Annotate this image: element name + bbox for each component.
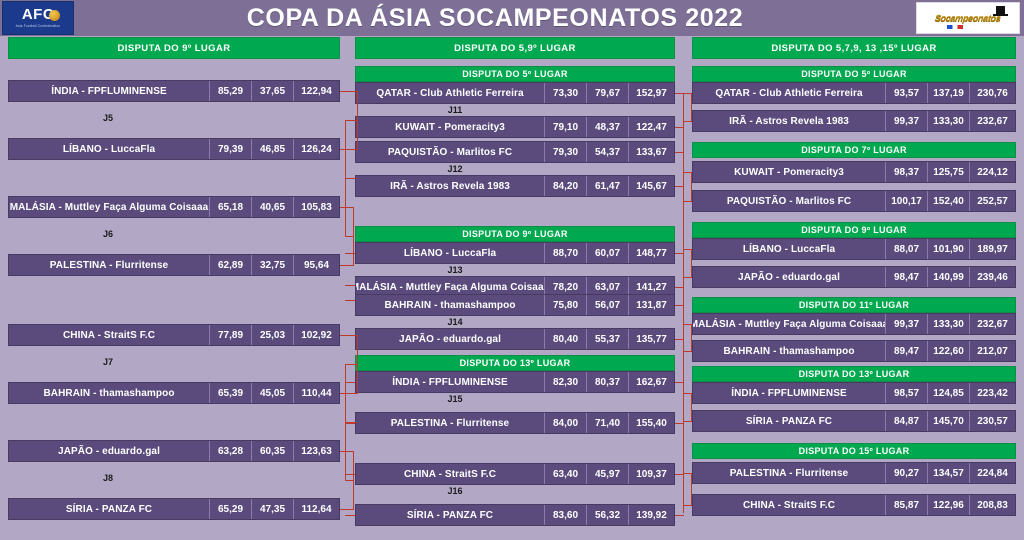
- score-total: 123,63: [293, 441, 339, 461]
- team-name: QATAR - Club Athletic Ferreira: [356, 83, 544, 103]
- score-total: 122,94: [293, 81, 339, 101]
- socampeonatos-logo-text: Socampeonatos: [934, 13, 1001, 23]
- bracket-line: [340, 509, 354, 510]
- bracket-line: [683, 473, 692, 474]
- score-2: 37,65: [251, 81, 293, 101]
- score-1: 98,37: [885, 162, 927, 182]
- match-code: J13: [355, 265, 555, 275]
- score-total: 102,92: [293, 325, 339, 345]
- bracket-line: [675, 287, 684, 288]
- score-1: 82,30: [544, 372, 586, 392]
- bracket-line: [683, 324, 692, 325]
- match-row[interactable]: CHINA - StraitS F.C 85,87 122,96 208,83: [692, 494, 1016, 516]
- column-header-2: DISPUTA DO 5,9º LUGAR: [355, 37, 675, 59]
- bracket-line: [345, 480, 354, 481]
- stage-header: DISPUTA DO 9º LUGAR: [355, 226, 675, 242]
- bracket-line: [345, 253, 355, 254]
- score-1: 79,30: [544, 142, 586, 162]
- score-1: 65,39: [209, 383, 251, 403]
- team-name: SÍRIA - PANZA FC: [356, 505, 544, 525]
- match-row[interactable]: CHINA - StraitS F.C 77,89 25,03 102,92: [8, 324, 340, 346]
- score-1: 84,87: [885, 411, 927, 431]
- score-2: 55,37: [586, 329, 628, 349]
- team-name: LÍBANO - LuccaFla: [356, 243, 544, 263]
- match-row[interactable]: PALESTINA - Flurritense 84,00 71,40 155,…: [355, 412, 675, 434]
- score-2: 56,32: [586, 505, 628, 525]
- bracket-line: [691, 93, 692, 121]
- afc-logo: AFC Asia Football Confederation: [2, 1, 74, 35]
- match-row[interactable]: IRÃ - Astros Revela 1983 99,37 133,30 23…: [692, 110, 1016, 132]
- match-row[interactable]: KUWAIT - Pomeracity3 79,10 48,37 122,47: [355, 116, 675, 138]
- score-2: 137,19: [927, 83, 969, 103]
- team-name: MALÁSIA - Muttley Faça Alguma Coisaaa: [693, 314, 885, 334]
- score-2: 79,67: [586, 83, 628, 103]
- match-code: J5: [8, 113, 208, 123]
- score-1: 63,28: [209, 441, 251, 461]
- score-1: 79,39: [209, 139, 251, 159]
- bracket-line: [345, 236, 354, 237]
- stage-header: DISPUTA DO 13º LUGAR: [692, 366, 1016, 382]
- bracket-line: [683, 277, 692, 278]
- bracket-line: [345, 178, 357, 179]
- match-row[interactable]: SÍRIA - PANZA FC 84,87 145,70 230,57: [692, 410, 1016, 432]
- column-headers: DISPUTA DO 9º LUGAR DISPUTA DO 5,9º LUGA…: [0, 37, 1024, 59]
- match-code: J6: [8, 229, 208, 239]
- bracket-line: [675, 186, 684, 187]
- column-header-3: DISPUTA DO 5,7,9, 13 ,15º LUGAR: [692, 37, 1016, 59]
- score-2: 145,70: [927, 411, 969, 431]
- bracket-line: [345, 423, 355, 424]
- score-total: 109,37: [628, 464, 674, 484]
- score-2: 125,75: [927, 162, 969, 182]
- bracket-line: [683, 121, 692, 122]
- match-row[interactable]: SÍRIA - PANZA FC 83,60 56,32 139,92: [355, 504, 675, 526]
- score-2: 48,37: [586, 117, 628, 137]
- match-row[interactable]: ÍNDIA - FPFLUMINENSE 85,29 37,65 122,94: [8, 80, 340, 102]
- page-header: AFC Asia Football Confederation COPA DA …: [0, 0, 1024, 36]
- match-row[interactable]: ÍNDIA - FPFLUMINENSE 82,30 80,37 162,67: [355, 371, 675, 393]
- match-row[interactable]: JAPÃO - eduardo.gal 80,40 55,37 135,77: [355, 328, 675, 350]
- bracket-line: [340, 149, 358, 150]
- column-header-1: DISPUTA DO 9º LUGAR: [8, 37, 340, 59]
- team-name: PAQUISTÃO - Marlitos FC: [693, 191, 885, 211]
- score-total: 155,40: [628, 413, 674, 433]
- bracket-line: [675, 515, 684, 516]
- match-row[interactable]: QATAR - Club Athletic Ferreira 93,57 137…: [692, 82, 1016, 104]
- bracket-line: [345, 382, 355, 383]
- match-row[interactable]: JAPÃO - eduardo.gal 98,47 140,99 239,46: [692, 266, 1016, 288]
- team-name: IRÃ - Astros Revela 1983: [356, 176, 544, 196]
- team-name: CHINA - StraitS F.C: [693, 495, 885, 515]
- stage-header: DISPUTA DO 11º LUGAR: [692, 297, 1016, 313]
- score-total: 212,07: [969, 341, 1015, 361]
- socampeonatos-logo: Socampeonatos: [916, 2, 1020, 34]
- bracket-line: [345, 300, 355, 301]
- score-total: 224,84: [969, 463, 1015, 483]
- score-2: 25,03: [251, 325, 293, 345]
- team-name: LÍBANO - LuccaFla: [9, 139, 209, 159]
- score-1: 99,37: [885, 111, 927, 131]
- match-row[interactable]: MALÁSIA - Muttley Faça Alguma Coisaaa 99…: [692, 313, 1016, 335]
- score-1: 88,07: [885, 239, 927, 259]
- score-1: 77,89: [209, 325, 251, 345]
- score-1: 65,29: [209, 499, 251, 519]
- match-code: J15: [355, 394, 555, 404]
- team-name: ÍNDIA - FPFLUMINENSE: [693, 383, 885, 403]
- match-row[interactable]: BAHRAIN - thamashampoo 89,47 122,60 212,…: [692, 340, 1016, 362]
- stage-header: DISPUTA DO 15º LUGAR: [692, 443, 1016, 459]
- bracket-line: [340, 207, 354, 208]
- bracket-line: [675, 152, 684, 153]
- stage-header: DISPUTA DO 5º LUGAR: [692, 66, 1016, 82]
- bracket-line: [691, 172, 692, 201]
- score-total: 224,12: [969, 162, 1015, 182]
- score-1: 73,30: [544, 83, 586, 103]
- bracket-line: [683, 249, 692, 250]
- score-total: 232,67: [969, 111, 1015, 131]
- team-name: JAPÃO - eduardo.gal: [9, 441, 209, 461]
- score-total: 112,64: [293, 499, 339, 519]
- score-2: 122,60: [927, 341, 969, 361]
- score-total: 105,83: [293, 197, 339, 217]
- match-code: J14: [355, 317, 555, 327]
- score-total: 232,67: [969, 314, 1015, 334]
- bracket-line: [683, 172, 692, 173]
- team-name: MALÁSIA - Muttley Faça Alguma Coisaaa: [9, 197, 209, 217]
- bracket-line: [675, 382, 684, 383]
- score-1: 83,60: [544, 505, 586, 525]
- score-1: 89,47: [885, 341, 927, 361]
- score-2: 54,37: [586, 142, 628, 162]
- bracket-line: [683, 93, 684, 513]
- match-row[interactable]: JAPÃO - eduardo.gal 63,28 60,35 123,63: [8, 440, 340, 462]
- match-row[interactable]: PAQUISTÃO - Marlitos FC 100,17 152,40 25…: [692, 190, 1016, 212]
- team-name: SÍRIA - PANZA FC: [9, 499, 209, 519]
- score-total: 148,77: [628, 243, 674, 263]
- team-name: QATAR - Club Athletic Ferreira: [693, 83, 885, 103]
- score-2: 46,85: [251, 139, 293, 159]
- match-row[interactable]: LÍBANO - LuccaFla 79,39 46,85 126,24: [8, 138, 340, 160]
- bracket-line: [675, 127, 684, 128]
- bracket-line: [345, 120, 357, 121]
- bracket-line: [675, 253, 684, 254]
- score-1: 93,57: [885, 83, 927, 103]
- score-2: 61,47: [586, 176, 628, 196]
- score-1: 99,37: [885, 314, 927, 334]
- score-total: 162,67: [628, 372, 674, 392]
- score-2: 45,05: [251, 383, 293, 403]
- match-code: J8: [8, 473, 208, 483]
- stage-header: DISPUTA DO 7º LUGAR: [692, 142, 1016, 158]
- bracket-line: [675, 305, 684, 306]
- match-row[interactable]: SÍRIA - PANZA FC 65,29 47,35 112,64: [8, 498, 340, 520]
- bracket-line: [691, 473, 692, 505]
- match-row[interactable]: BAHRAIN - thamashampoo 65,39 45,05 110,4…: [8, 382, 340, 404]
- flag-icon: [947, 25, 963, 29]
- team-name: IRÃ - Astros Revela 1983: [693, 111, 885, 131]
- match-row[interactable]: CHINA - StraitS F.C 63,40 45,97 109,37: [355, 463, 675, 485]
- match-row[interactable]: ÍNDIA - FPFLUMINENSE 98,57 124,85 223,42: [692, 382, 1016, 404]
- score-total: 110,44: [293, 383, 339, 403]
- team-name: KUWAIT - Pomeracity3: [356, 117, 544, 137]
- match-row[interactable]: BAHRAIN - thamashampoo 75,80 56,07 131,8…: [355, 294, 675, 316]
- score-2: 60,35: [251, 441, 293, 461]
- bracket-line: [340, 335, 358, 336]
- bracket-line: [345, 285, 355, 286]
- match-code: J7: [8, 357, 208, 367]
- score-2: 134,57: [927, 463, 969, 483]
- score-2: 133,30: [927, 111, 969, 131]
- team-name: JAPÃO - eduardo.gal: [356, 329, 544, 349]
- score-2: 124,85: [927, 383, 969, 403]
- score-2: 45,97: [586, 464, 628, 484]
- score-1: 65,18: [209, 197, 251, 217]
- match-code: J12: [355, 164, 555, 174]
- score-1: 98,57: [885, 383, 927, 403]
- bracket-line: [683, 201, 692, 202]
- score-1: 88,70: [544, 243, 586, 263]
- bracket-line: [345, 515, 355, 516]
- bracket-line: [683, 393, 692, 394]
- score-1: 80,40: [544, 329, 586, 349]
- score-total: 126,24: [293, 139, 339, 159]
- score-1: 98,47: [885, 267, 927, 287]
- bracket-line: [683, 505, 692, 506]
- match-row[interactable]: LÍBANO - LuccaFla 88,07 101,90 189,97: [692, 238, 1016, 260]
- score-2: 32,75: [251, 255, 293, 275]
- stage-header: DISPUTA DO 9º LUGAR: [692, 222, 1016, 238]
- score-total: 135,77: [628, 329, 674, 349]
- bracket-line: [357, 335, 358, 394]
- bracket-line: [340, 393, 358, 394]
- team-name: LÍBANO - LuccaFla: [693, 239, 885, 259]
- bracket-line: [340, 91, 358, 92]
- bracket-line: [345, 474, 355, 475]
- score-1: 62,89: [209, 255, 251, 275]
- bracket-line: [340, 451, 354, 452]
- score-total: 145,67: [628, 176, 674, 196]
- team-name: KUWAIT - Pomeracity3: [693, 162, 885, 182]
- match-row[interactable]: PAQUISTÃO - Marlitos FC 79,30 54,37 133,…: [355, 141, 675, 163]
- score-total: 230,57: [969, 411, 1015, 431]
- score-2: 133,30: [927, 314, 969, 334]
- match-row[interactable]: PALESTINA - Flurritense 62,89 32,75 95,6…: [8, 254, 340, 276]
- score-1: 90,27: [885, 463, 927, 483]
- score-2: 40,65: [251, 197, 293, 217]
- score-2: 47,35: [251, 499, 293, 519]
- match-row[interactable]: LÍBANO - LuccaFla 88,70 60,07 148,77: [355, 242, 675, 264]
- score-total: 239,46: [969, 267, 1015, 287]
- score-2: 56,07: [586, 295, 628, 315]
- match-row[interactable]: MALÁSIA - Muttley Faça Alguma Coisaaa 65…: [8, 196, 340, 218]
- score-2: 71,40: [586, 413, 628, 433]
- score-1: 84,00: [544, 413, 586, 433]
- team-name: BAHRAIN - thamashampoo: [693, 341, 885, 361]
- match-row[interactable]: IRÃ - Astros Revela 1983 84,20 61,47 145…: [355, 175, 675, 197]
- score-total: 230,76: [969, 83, 1015, 103]
- score-1: 79,10: [544, 117, 586, 137]
- match-code: J11: [355, 105, 555, 115]
- score-total: 139,92: [628, 505, 674, 525]
- team-name: ÍNDIA - FPFLUMINENSE: [9, 81, 209, 101]
- team-name: CHINA - StraitS F.C: [356, 464, 544, 484]
- stage-header: DISPUTA DO 5º LUGAR: [355, 66, 675, 82]
- team-name: PAQUISTÃO - Marlitos FC: [356, 142, 544, 162]
- score-2: 60,07: [586, 243, 628, 263]
- bracket-line: [691, 324, 692, 351]
- afc-logo-subtitle: Asia Football Confederation: [16, 24, 61, 28]
- team-name: PALESTINA - Flurritense: [9, 255, 209, 275]
- bracket-line: [683, 351, 692, 352]
- team-name: CHINA - StraitS F.C: [9, 325, 209, 345]
- score-1: 84,20: [544, 176, 586, 196]
- bracket-line: [357, 91, 358, 150]
- score-1: 85,87: [885, 495, 927, 515]
- team-name: BAHRAIN - thamashampoo: [9, 383, 209, 403]
- score-2: 80,37: [586, 372, 628, 392]
- team-name: PALESTINA - Flurritense: [693, 463, 885, 483]
- match-row[interactable]: KUWAIT - Pomeracity3 98,37 125,75 224,12: [692, 161, 1016, 183]
- score-total: 152,97: [628, 83, 674, 103]
- match-row[interactable]: QATAR - Club Athletic Ferreira 73,30 79,…: [355, 82, 675, 104]
- bracket-line: [340, 265, 354, 266]
- bracket-line: [675, 339, 684, 340]
- score-total: 189,97: [969, 239, 1015, 259]
- bracket-line: [691, 393, 692, 421]
- score-total: 252,57: [969, 191, 1015, 211]
- score-total: 122,47: [628, 117, 674, 137]
- score-2: 140,99: [927, 267, 969, 287]
- team-name: JAPÃO - eduardo.gal: [693, 267, 885, 287]
- score-2: 122,96: [927, 495, 969, 515]
- match-code: J16: [355, 486, 555, 496]
- score-2: 101,90: [927, 239, 969, 259]
- team-name: BAHRAIN - thamashampoo: [356, 295, 544, 315]
- bracket-line: [675, 474, 684, 475]
- bracket-page: AFC Asia Football Confederation COPA DA …: [0, 0, 1024, 540]
- score-1: 63,40: [544, 464, 586, 484]
- score-total: 223,42: [969, 383, 1015, 403]
- score-total: 208,83: [969, 495, 1015, 515]
- page-title: COPA DA ÁSIA SOCAMPEONATOS 2022: [74, 4, 916, 33]
- match-row[interactable]: PALESTINA - Flurritense 90,27 134,57 224…: [692, 462, 1016, 484]
- score-2: 152,40: [927, 191, 969, 211]
- score-1: 85,29: [209, 81, 251, 101]
- bracket-line: [683, 421, 692, 422]
- bracket-line: [675, 423, 684, 424]
- team-name: SÍRIA - PANZA FC: [693, 411, 885, 431]
- stage-header: DISPUTA DO 13º LUGAR: [355, 355, 675, 371]
- bracket-line: [345, 364, 357, 365]
- afc-ball-icon: [49, 10, 60, 21]
- bracket-line: [691, 249, 692, 277]
- score-1: 100,17: [885, 191, 927, 211]
- score-1: 75,80: [544, 295, 586, 315]
- team-name: ÍNDIA - FPFLUMINENSE: [356, 372, 544, 392]
- score-total: 131,87: [628, 295, 674, 315]
- score-total: 95,64: [293, 255, 339, 275]
- team-name: PALESTINA - Flurritense: [356, 413, 544, 433]
- score-total: 133,67: [628, 142, 674, 162]
